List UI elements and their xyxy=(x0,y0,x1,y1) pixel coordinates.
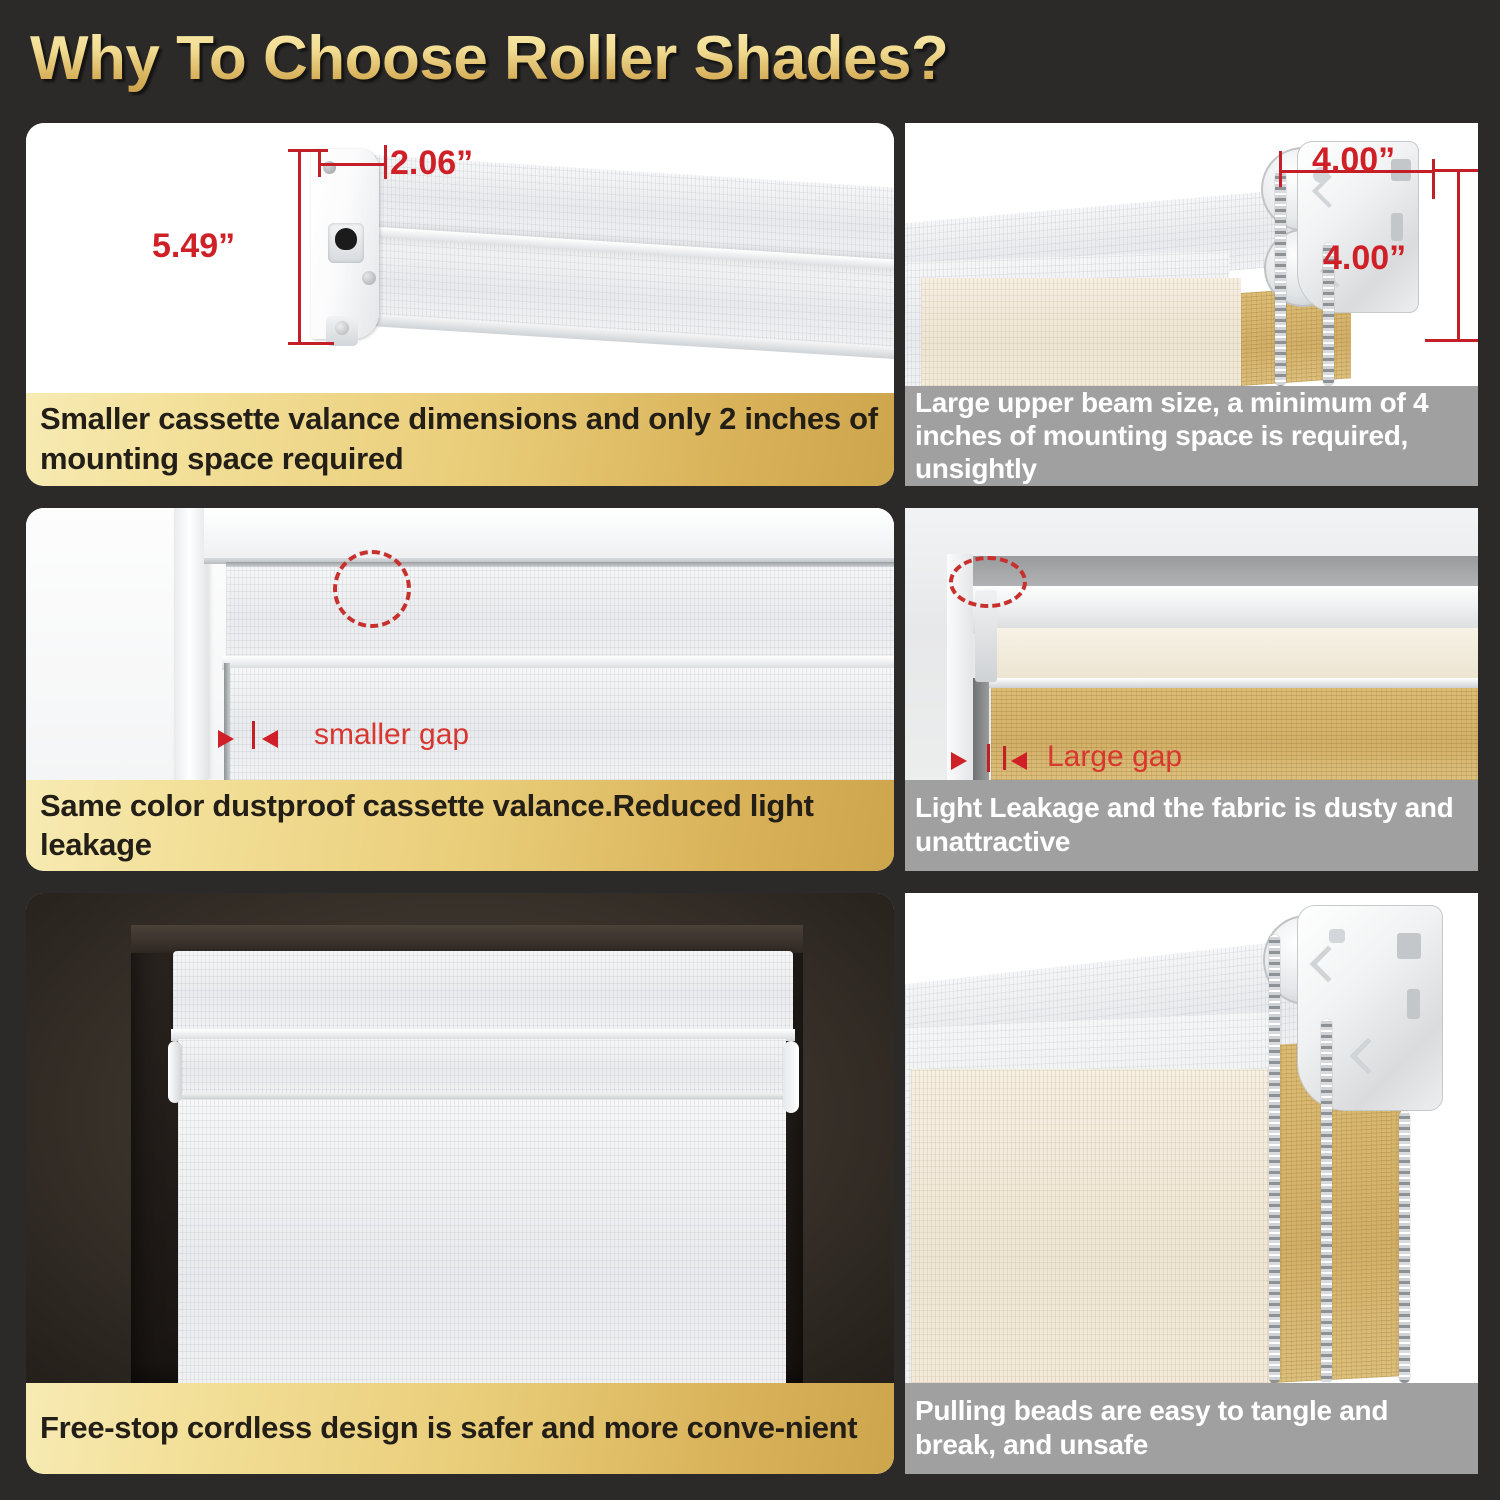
panel-2-caption-text: Large upper beam size, a minimum of 4 in… xyxy=(915,386,1468,485)
large-gap-marker-bar-1 xyxy=(987,744,990,772)
installed-cassette-valance xyxy=(226,566,894,662)
beads-cream-fabric xyxy=(911,1069,1271,1383)
beads-bracket-slot-a xyxy=(1397,933,1421,959)
width-dim-tick-right xyxy=(384,145,387,179)
panel-3-caption-text: Same color dustproof cassette valance.Re… xyxy=(40,786,880,864)
fabric-bottom-rail xyxy=(987,678,1478,688)
panel-1-caption: Smaller cassette valance dimensions and … xyxy=(26,393,894,486)
large-gap-marker-bar-2 xyxy=(1003,746,1006,770)
gap-highlight-circle xyxy=(333,550,411,628)
beam-width-tick-right xyxy=(1432,159,1435,199)
panel-6-photo xyxy=(905,893,1478,1383)
shade-side-edge-dark xyxy=(224,663,230,780)
width-dim-line-main xyxy=(318,163,386,166)
large-gap-arrow-right xyxy=(1011,752,1027,770)
beam-width-tick-left xyxy=(1279,151,1282,187)
height-dim-tick-bottom xyxy=(288,342,334,345)
hanging-fabric-cream xyxy=(921,278,1241,386)
panel-5-caption-text: Free-stop cordless design is safer and m… xyxy=(40,1408,880,1448)
panel-large-beam: 4.00” 4.00” Large upper beam size, a min… xyxy=(905,123,1478,486)
panel-4-photo: Large gap xyxy=(905,508,1478,780)
end-cap-clutch-hole xyxy=(335,228,357,250)
bead-chain-front xyxy=(1275,171,1286,386)
beam-height-tick-top xyxy=(1433,169,1478,172)
large-gap-label: Large gap xyxy=(1047,740,1182,774)
cordless-cassette-valance xyxy=(173,951,793,1033)
panel-cordless-design: Free-stop cordless design is safer and m… xyxy=(26,893,894,1474)
panel-2-photo: 4.00” 4.00” xyxy=(905,123,1478,386)
beam-width-label: 4.00” xyxy=(1312,141,1395,180)
page-title: Why To Choose Roller Shades? xyxy=(30,18,1130,100)
height-dimension-label: 5.49” xyxy=(152,227,235,266)
beads-bracket-slot-b xyxy=(1407,989,1420,1019)
width-dimension-label: 2.06” xyxy=(390,144,473,183)
bead-chain-1 xyxy=(1269,935,1280,1383)
cassette-top-rail-line xyxy=(226,562,894,567)
roller-tube-bad xyxy=(965,586,1478,634)
height-dim-line-main xyxy=(298,149,301,345)
smaller-gap-label: smaller gap xyxy=(314,718,469,752)
height-dim-tick-top xyxy=(288,149,328,152)
cream-fabric-band xyxy=(987,628,1478,680)
panel-5-photo xyxy=(26,893,894,1383)
large-gap-arrow-left xyxy=(951,752,967,770)
panel-smaller-cassette: 2.06” 5.49” Smaller cassette valance dim… xyxy=(26,123,894,486)
gap-marker-bar xyxy=(252,721,255,749)
bead-chain-2 xyxy=(1321,1019,1332,1383)
panel-4-caption: Light Leakage and the fabric is dusty an… xyxy=(905,780,1478,871)
panel-smaller-gap: smaller gap Same color dustproof cassett… xyxy=(26,508,894,871)
beam-height-dim-line xyxy=(1457,169,1460,341)
panel-2-caption: Large upper beam size, a minimum of 4 in… xyxy=(905,386,1478,486)
cordless-shade-band xyxy=(178,1039,786,1097)
end-cap-screw-mid xyxy=(362,271,376,285)
panel-1-caption-text: Smaller cassette valance dimensions and … xyxy=(40,399,880,479)
bracket-slot-b xyxy=(1391,213,1403,241)
beads-bracket-plate xyxy=(1297,905,1443,1111)
window-recess-header xyxy=(131,925,803,953)
end-cap-bottom-screw xyxy=(335,321,349,335)
panel-pulling-beads: Pulling beads are easy to tangle and bre… xyxy=(905,893,1478,1474)
window-frame-header xyxy=(204,508,894,560)
panel-1-photo: 2.06” 5.49” xyxy=(26,123,894,393)
width-dim-tick-left xyxy=(318,151,321,177)
infographic-root: Why To Choose Roller Shades? 2.06” xyxy=(0,0,1500,1500)
beads-bracket-pin xyxy=(1329,929,1345,943)
beam-height-label: 4.00” xyxy=(1323,239,1406,278)
roller-endcap-right xyxy=(783,1041,799,1113)
gap-highlight-circle-bad xyxy=(949,556,1027,608)
window-frame-left-jamb xyxy=(174,508,208,780)
gap-arrow-in-left xyxy=(218,730,234,748)
panel-4-caption-text: Light Leakage and the fabric is dusty an… xyxy=(915,791,1468,859)
panel-6-caption: Pulling beads are easy to tangle and bre… xyxy=(905,1383,1478,1474)
gap-arrow-in-right xyxy=(262,730,278,748)
roller-endcap-left xyxy=(168,1041,182,1103)
panel-3-photo: smaller gap xyxy=(26,508,894,780)
beam-height-tick-bottom xyxy=(1425,339,1478,342)
panel-3-caption: Same color dustproof cassette valance.Re… xyxy=(26,780,894,871)
panel-6-caption-text: Pulling beads are easy to tangle and bre… xyxy=(915,1394,1468,1462)
cordless-shade-body xyxy=(178,1099,786,1383)
panel-large-gap: Large gap Light Leakage and the fabric i… xyxy=(905,508,1478,871)
bead-chain-3 xyxy=(1399,1111,1410,1383)
panel-5-caption: Free-stop cordless design is safer and m… xyxy=(26,1383,894,1474)
